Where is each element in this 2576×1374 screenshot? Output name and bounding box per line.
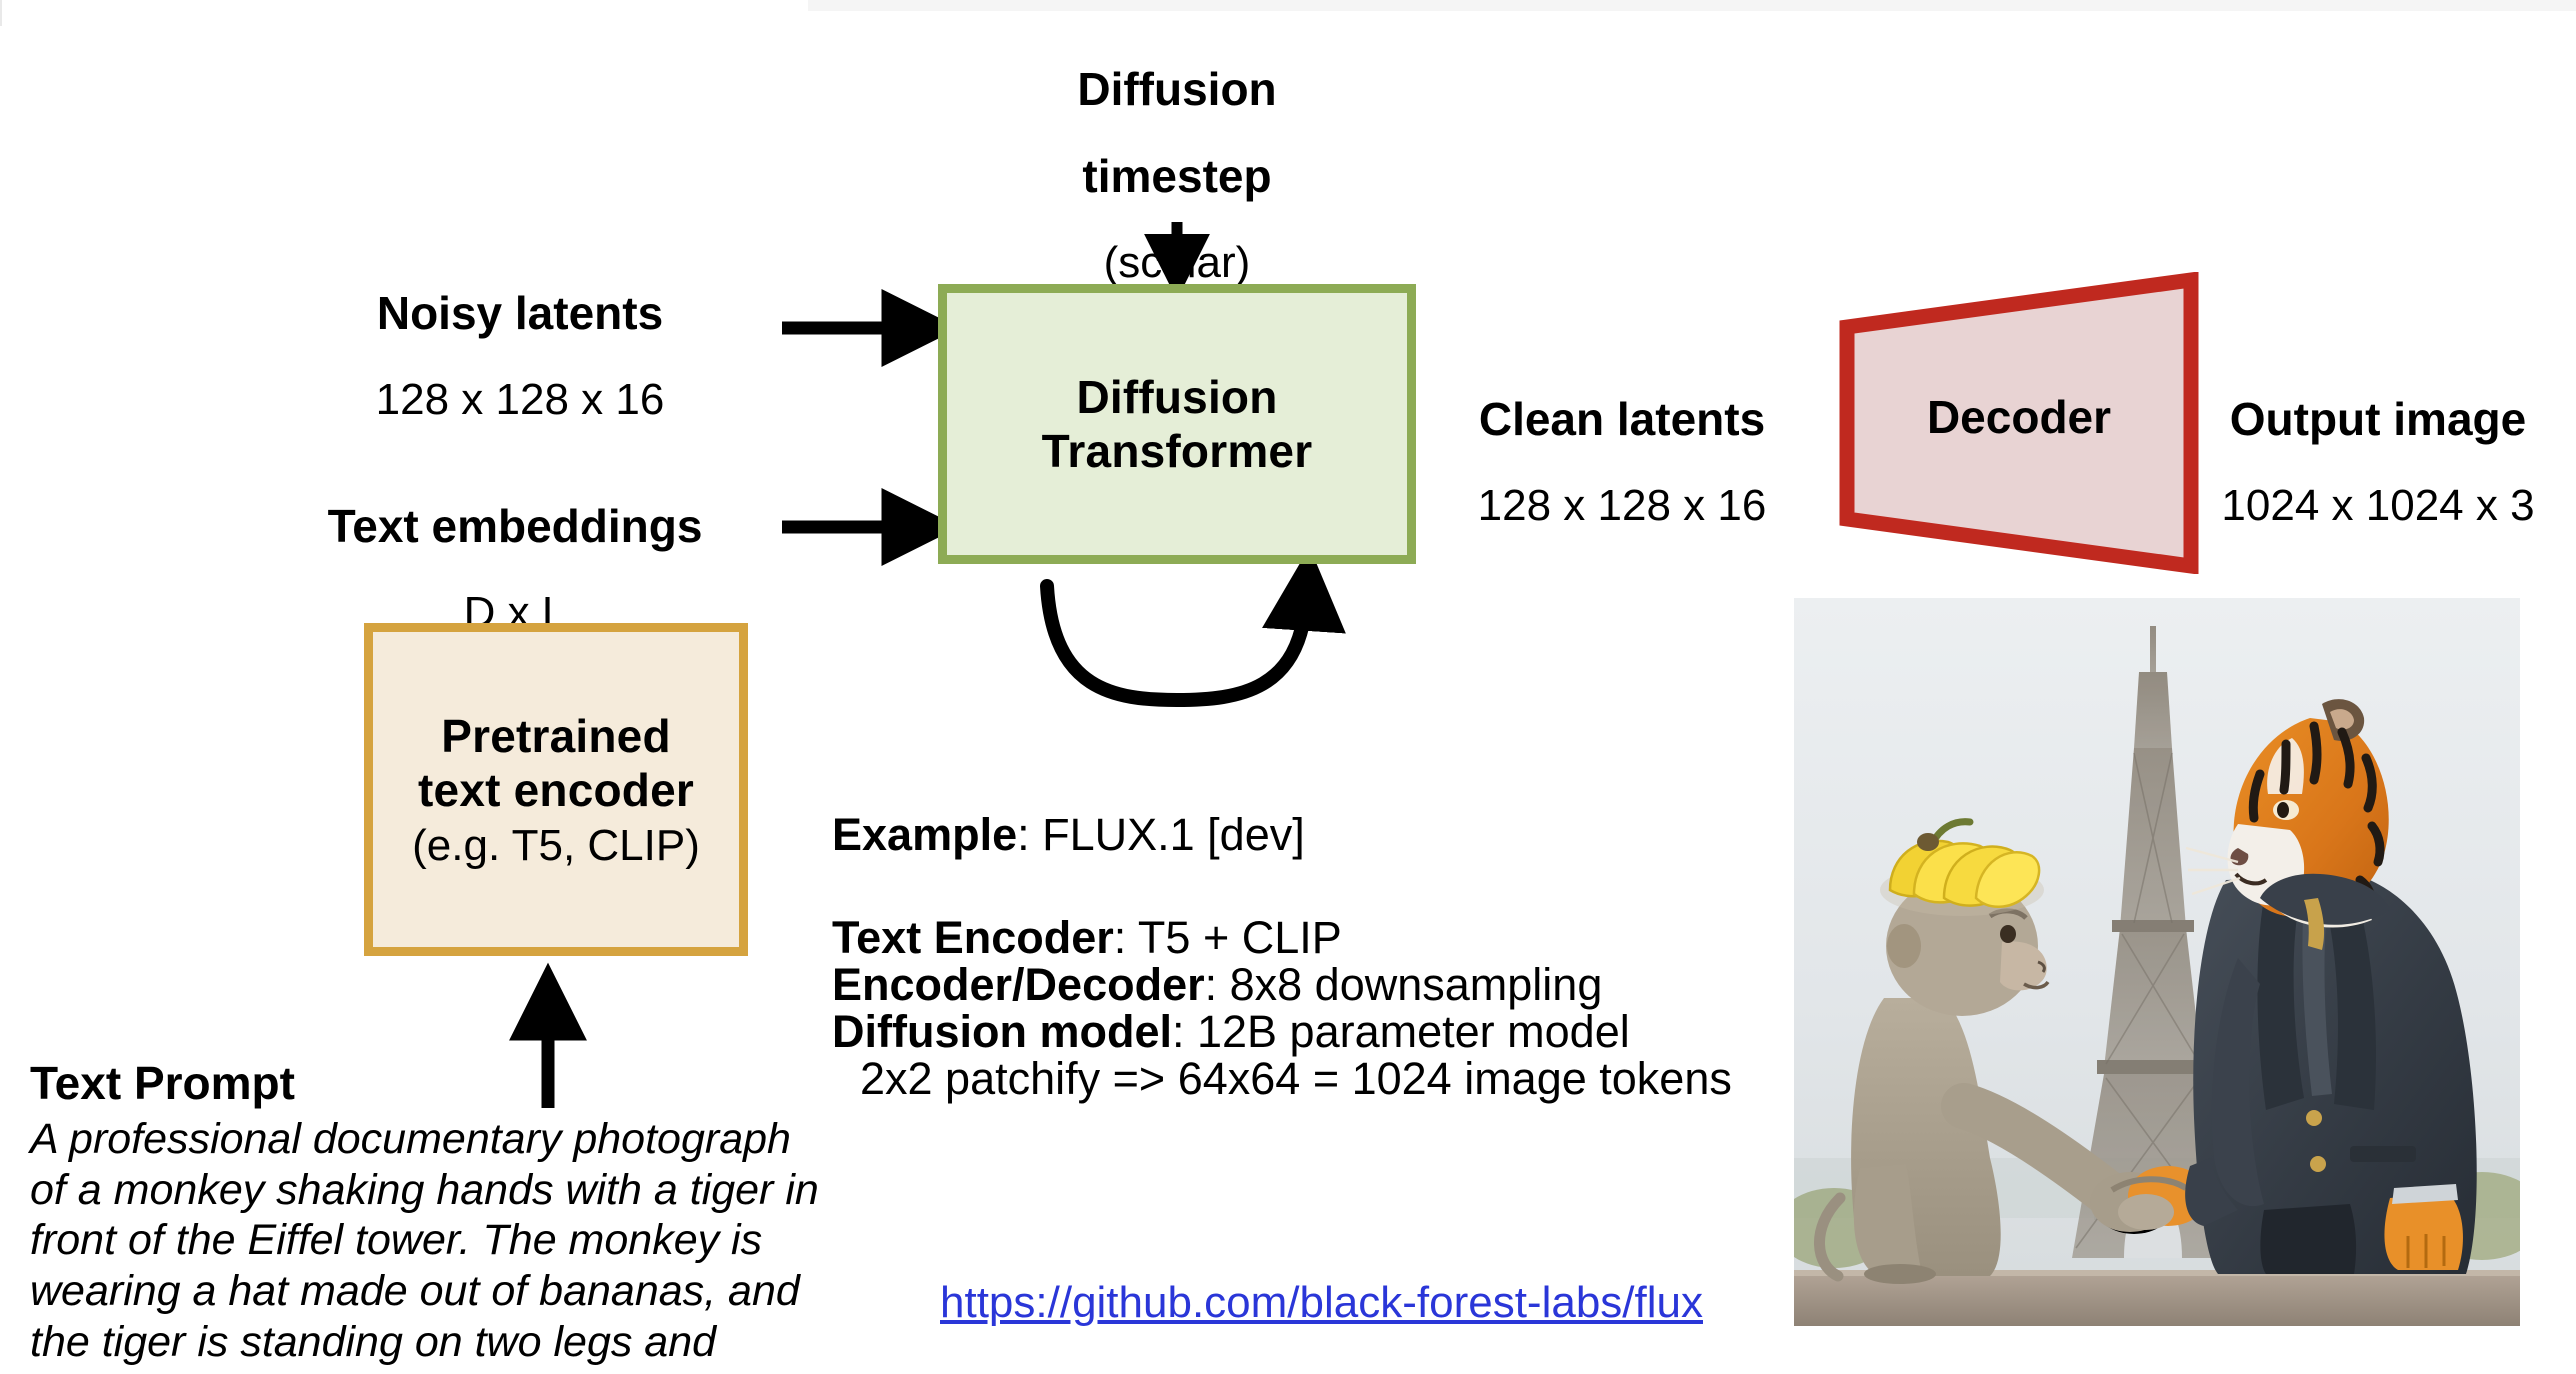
spec-diffusion-model-value: : 12B parameter model: [1172, 1006, 1630, 1057]
output-image-label: Output image 1024 x 1024 x 3: [2198, 358, 2558, 566]
model-spec-block: Example: FLUX.1 [dev] Text Encoder: T5 +…: [832, 812, 1812, 1103]
timestep-line-1: Diffusion: [1012, 64, 1342, 116]
clean-latents-title: Clean latents: [1452, 394, 1792, 446]
top-edge-strip: [808, 0, 2576, 11]
spec-diffusion-model-key: Diffusion model: [832, 1006, 1172, 1057]
spec-example-key: Example: [832, 809, 1017, 860]
photo-illustration: [1794, 598, 2520, 1326]
clean-latents-shape: 128 x 128 x 16: [1452, 481, 1792, 530]
spec-row-text-encoder: Text Encoder: T5 + CLIP: [832, 915, 1812, 960]
spec-spacer: [832, 859, 1812, 915]
spec-row-patchify: 2x2 patchify => 64x64 = 1024 image token…: [832, 1056, 1812, 1101]
loop-arrow-icon: [1047, 586, 1306, 700]
encoder-line-1: Pretrained: [441, 709, 671, 763]
spec-text-encoder-key: Text Encoder: [832, 912, 1114, 963]
text-embeddings-title: Text embeddings: [300, 501, 730, 553]
flux-github-link[interactable]: https://github.com/black-forest-labs/flu…: [940, 1278, 1703, 1328]
noisy-latents-shape: 128 x 128 x 16: [330, 375, 710, 424]
text-prompt-body: A professional documentary photograph of…: [30, 1114, 820, 1374]
generated-output-photo: [1794, 598, 2520, 1326]
spec-row-example: Example: FLUX.1 [dev]: [832, 812, 1812, 857]
clean-latents-label: Clean latents 128 x 128 x 16: [1452, 358, 1792, 566]
transformer-line-2: Transformer: [1042, 424, 1313, 478]
spec-encoder-decoder-value: : 8x8 downsampling: [1205, 959, 1603, 1010]
slide-canvas: Diffusion timestep (scalar) Noisy latent…: [0, 0, 2576, 1374]
transformer-line-1: Diffusion: [1076, 370, 1277, 424]
encoder-line-2: text encoder: [418, 763, 694, 817]
text-prompt-title: Text Prompt: [30, 1058, 295, 1110]
timestep-line-3: (scalar): [1012, 238, 1342, 287]
output-image-title: Output image: [2198, 394, 2558, 446]
timestep-line-2: timestep: [1012, 151, 1342, 203]
left-edge-rule: [0, 0, 2, 26]
output-image-shape: 1024 x 1024 x 3: [2198, 481, 2558, 530]
diffusion-timestep-label: Diffusion timestep (scalar): [1012, 28, 1342, 324]
diffusion-transformer-box[interactable]: Diffusion Transformer: [938, 284, 1416, 564]
noisy-latents-label: Noisy latents 128 x 128 x 16: [330, 252, 710, 460]
spec-encoder-decoder-key: Encoder/Decoder: [832, 959, 1205, 1010]
spec-row-encoder-decoder: Encoder/Decoder: 8x8 downsampling: [832, 962, 1812, 1007]
encoder-line-3: (e.g. T5, CLIP): [412, 821, 700, 871]
spec-text-encoder-value: : T5 + CLIP: [1114, 912, 1342, 963]
spec-example-value: : FLUX.1 [dev]: [1017, 809, 1305, 860]
noisy-latents-title: Noisy latents: [330, 288, 710, 340]
pretrained-text-encoder-box[interactable]: Pretrained text encoder (e.g. T5, CLIP): [364, 623, 748, 956]
decoder-shape[interactable]: [1836, 272, 2202, 574]
spec-row-diffusion-model: Diffusion model: 12B parameter model: [832, 1009, 1812, 1054]
